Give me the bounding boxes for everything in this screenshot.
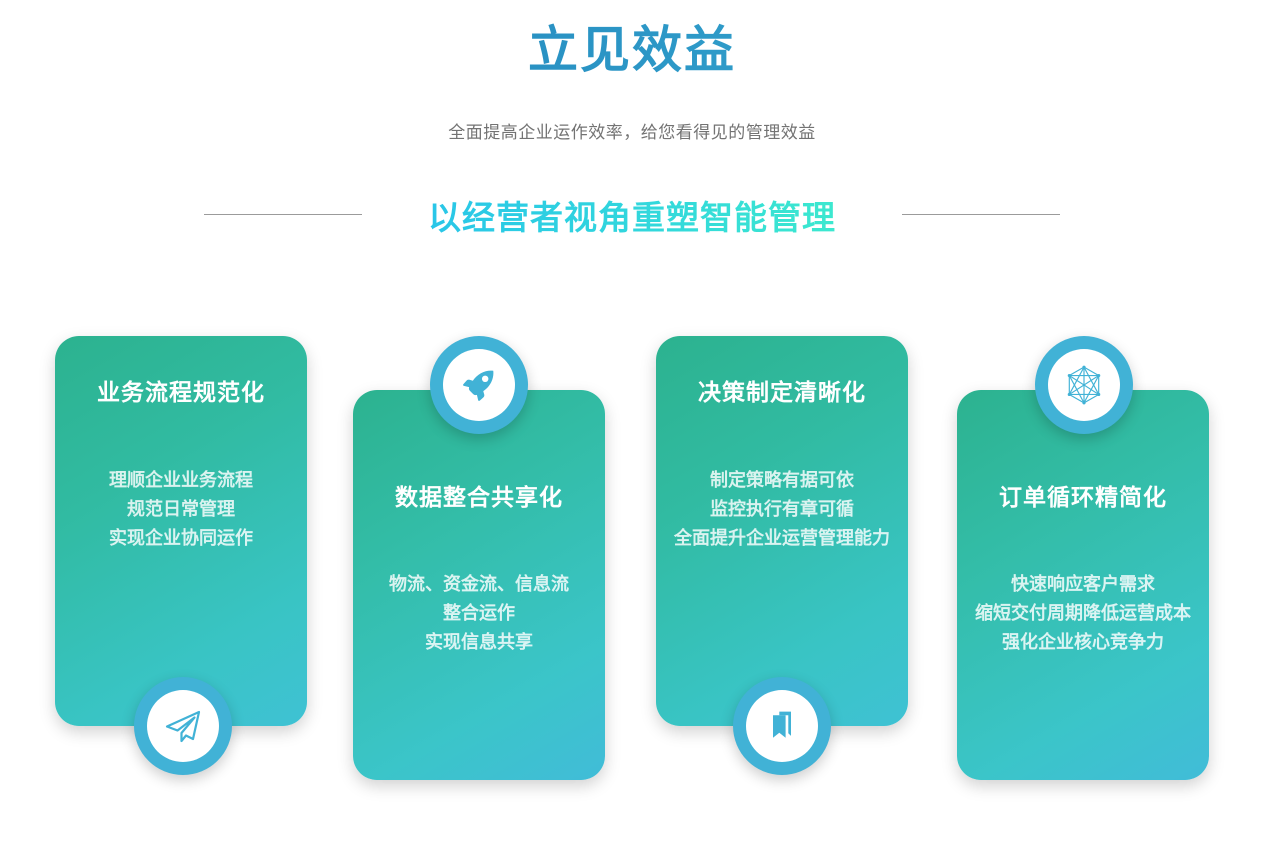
feature-card-1-title: 业务流程规范化 xyxy=(69,378,293,408)
feature-card-1-line-3: 实现企业协同运作 xyxy=(69,524,293,553)
feature-card-1-line-1: 理顺企业业务流程 xyxy=(69,466,293,495)
page-title: 立见效益 xyxy=(0,22,1264,80)
feature-card-4-line-3: 强化企业核心竞争力 xyxy=(971,628,1195,657)
divider-line-left xyxy=(204,214,362,215)
bookmarks-icon xyxy=(764,708,800,744)
feature-card-3-line-2: 监控执行有章可循 xyxy=(670,495,894,524)
feature-card-4-line-1: 快速响应客户需求 xyxy=(971,570,1195,599)
section-heading-row: 以经营者视角重塑智能管理 xyxy=(0,191,1264,239)
icon-disc xyxy=(443,349,515,421)
rocket-icon xyxy=(460,366,498,404)
feature-card-4-line-2: 缩短交付周期降低运营成本 xyxy=(971,599,1195,628)
page-header: 立见效益 全面提高企业运作效率，给您看得见的管理效益 以经营者视角重塑智能管理 xyxy=(0,0,1264,239)
feature-card-3-body: 制定策略有据可依 监控执行有章可循 全面提升企业运营管理能力 xyxy=(670,466,894,552)
feature-card-2[interactable]: 数据整合共享化 物流、资金流、信息流 整合运作 实现信息共享 xyxy=(353,390,605,780)
feature-card-4-icon-badge[interactable] xyxy=(1035,336,1133,434)
divider-line-right xyxy=(902,214,1060,215)
feature-card-2-icon-badge[interactable] xyxy=(430,336,528,434)
network-hexagon-icon xyxy=(1063,364,1105,406)
icon-disc xyxy=(1048,349,1120,421)
paper-plane-icon xyxy=(163,706,203,746)
feature-card-3-icon-badge[interactable] xyxy=(733,677,831,775)
feature-card-3[interactable]: 决策制定清晰化 制定策略有据可依 监控执行有章可循 全面提升企业运营管理能力 xyxy=(656,336,908,726)
feature-card-1[interactable]: 业务流程规范化 理顺企业业务流程 规范日常管理 实现企业协同运作 xyxy=(55,336,307,726)
feature-card-2-title: 数据整合共享化 xyxy=(367,483,591,513)
feature-card-4-title: 订单循环精简化 xyxy=(971,483,1195,513)
feature-card-1-icon-badge[interactable] xyxy=(134,677,232,775)
feature-card-1-line-2: 规范日常管理 xyxy=(69,495,293,524)
feature-card-4-body: 快速响应客户需求 缩短交付周期降低运营成本 强化企业核心竞争力 xyxy=(971,570,1195,656)
feature-card-2-line-3: 实现信息共享 xyxy=(367,628,591,657)
page-subtitle: 全面提高企业运作效率，给您看得见的管理效益 xyxy=(0,80,1264,143)
icon-disc xyxy=(147,690,219,762)
feature-card-3-line-3: 全面提升企业运营管理能力 xyxy=(670,524,894,553)
icon-disc xyxy=(746,690,818,762)
feature-card-1-body: 理顺企业业务流程 规范日常管理 实现企业协同运作 xyxy=(69,466,293,552)
feature-card-2-line-2: 整合运作 xyxy=(367,599,591,628)
feature-card-3-line-1: 制定策略有据可依 xyxy=(670,466,894,495)
feature-card-2-body: 物流、资金流、信息流 整合运作 实现信息共享 xyxy=(367,570,591,656)
section-heading: 以经营者视角重塑智能管理 xyxy=(428,191,836,239)
feature-card-2-line-1: 物流、资金流、信息流 xyxy=(367,570,591,599)
feature-card-4[interactable]: 订单循环精简化 快速响应客户需求 缩短交付周期降低运营成本 强化企业核心竞争力 xyxy=(957,390,1209,780)
feature-card-3-title: 决策制定清晰化 xyxy=(670,378,894,408)
